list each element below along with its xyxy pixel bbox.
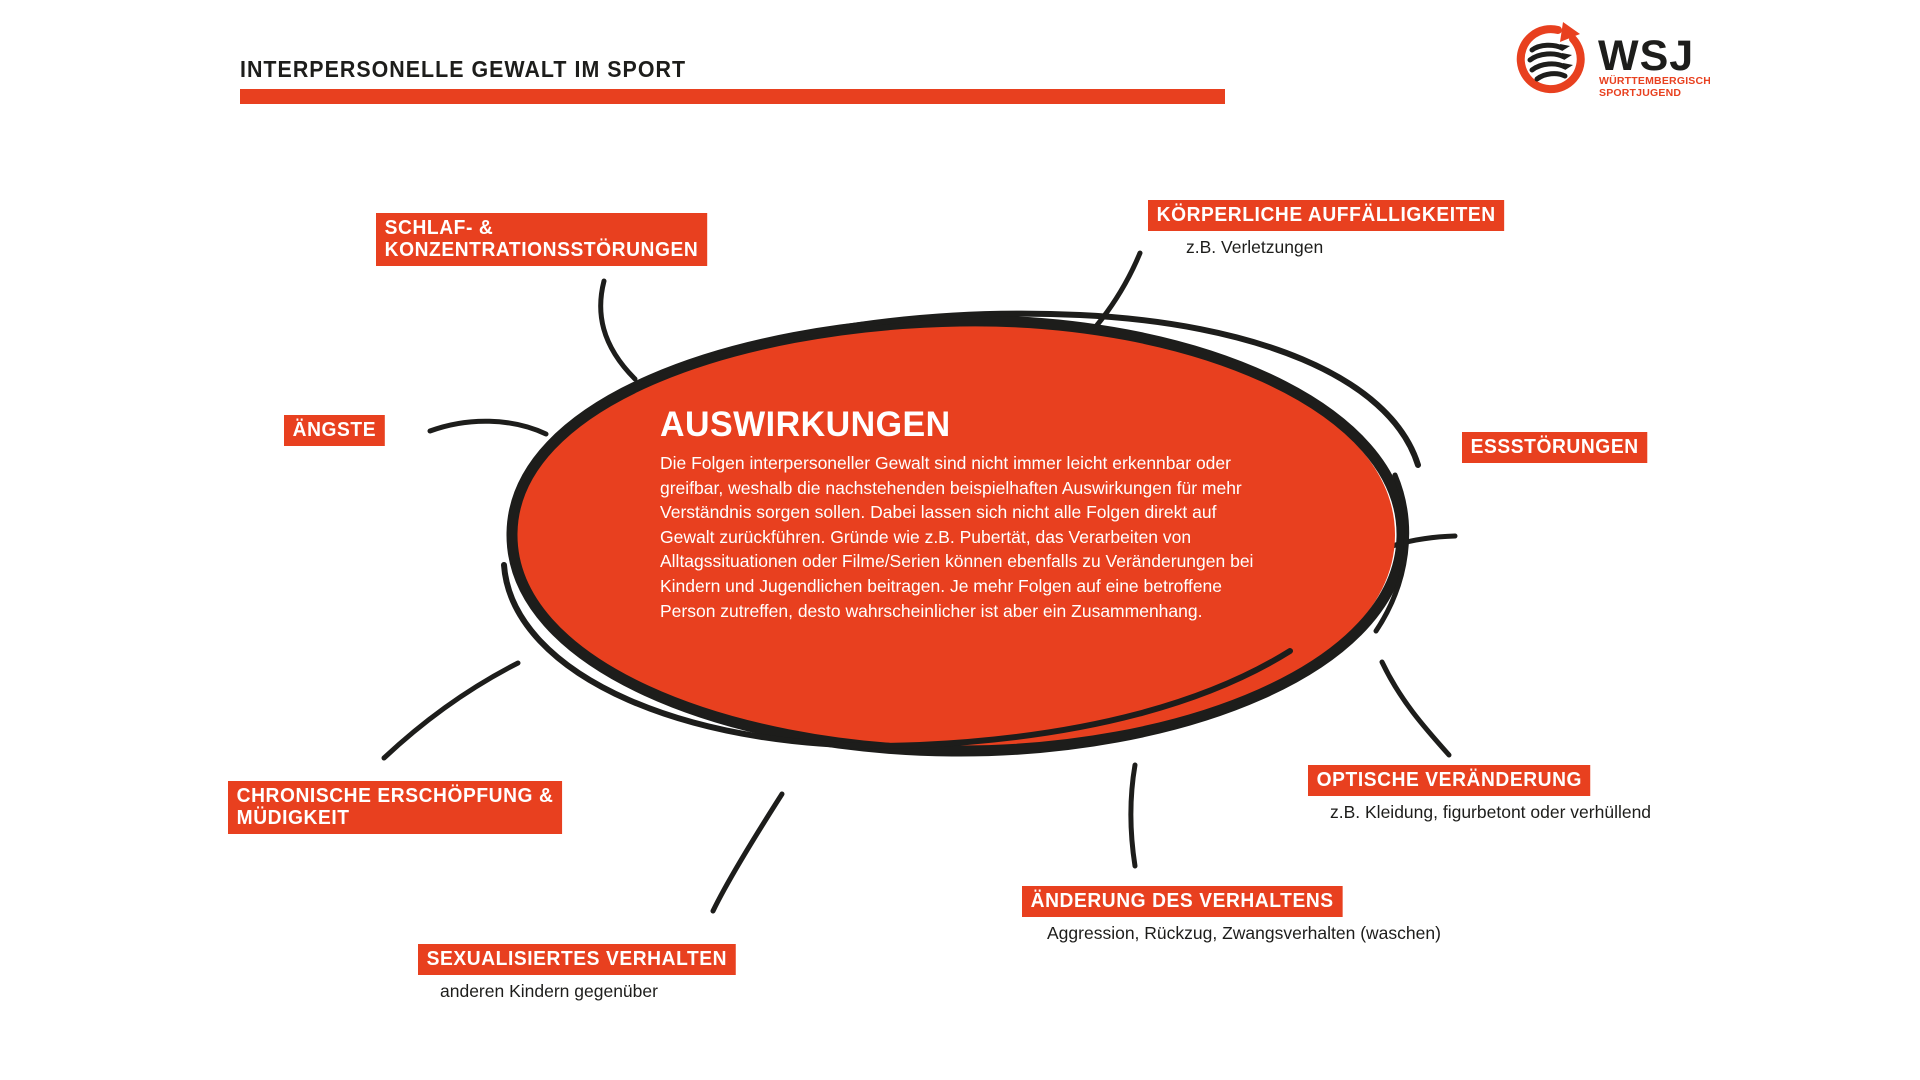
label-tag: CHRONISCHE ERSCHÖPFUNG & MÜDIGKEIT	[228, 781, 562, 834]
label-subtitle: Aggression, Rückzug, Zwangsverhalten (wa…	[1022, 922, 1441, 944]
label-aenderung-des-verhaltens[interactable]: ÄNDERUNG DES VERHALTENS Aggression, Rück…	[1022, 886, 1441, 944]
logo-wordmark: WSJ	[1598, 32, 1694, 80]
label-subtitle: anderen Kindern gegenüber	[418, 980, 749, 1002]
label-tag: OPTISCHE VERÄNDERUNG	[1308, 765, 1591, 796]
logo-subline-1: WÜRTTEMBERGISCHE	[1599, 74, 1710, 87]
label-aengste[interactable]: ÄNGSTE	[284, 415, 389, 446]
center-text-block: AUSWIRKUNGEN Die Folgen interpersoneller…	[660, 405, 1260, 623]
label-tag: ÄNDERUNG DES VERHALTENS	[1022, 886, 1342, 917]
label-subtitle: z.B. Verletzungen	[1148, 236, 1519, 258]
page-title: INTERPERSONELLE GEWALT IM SPORT	[240, 56, 686, 83]
label-essstoerungen[interactable]: ESSSTÖRUNGEN	[1462, 432, 1655, 463]
label-tag: SCHLAF- & KONZENTRATIONSSTÖRUNGEN	[376, 213, 707, 266]
label-line-1: SCHLAF- &	[385, 217, 699, 239]
label-optische-veraenderung[interactable]: OPTISCHE VERÄNDERUNG z.B. Kleidung, figu…	[1308, 765, 1651, 823]
infographic-canvas: INTERPERSONELLE GEWALT IM SPORT	[0, 0, 1920, 1080]
logo-subline-2: SPORTJUGEND	[1599, 87, 1681, 99]
center-heading: AUSWIRKUNGEN	[660, 405, 1242, 445]
connector-aenderung	[1131, 765, 1135, 866]
label-line-2: MÜDIGKEIT	[237, 807, 554, 829]
center-paragraph: Die Folgen interpersoneller Gewalt sind …	[660, 451, 1255, 623]
label-sexualisiertes-verhalten[interactable]: SEXUALISIERTES VERHALTEN anderen Kindern…	[418, 944, 749, 1002]
wsj-horse-arrow-mark	[1521, 22, 1581, 89]
wsj-logo: WSJ WÜRTTEMBERGISCHE SPORTJUGEND	[1510, 20, 1710, 102]
label-tag: ÄNGSTE	[284, 415, 385, 446]
label-chronische-erschoepfung-muedigkeit[interactable]: CHRONISCHE ERSCHÖPFUNG & MÜDIGKEIT	[228, 781, 576, 834]
label-koerperliche-auffaelligkeiten[interactable]: KÖRPERLICHE AUFFÄLLIGKEITEN z.B. Verletz…	[1148, 200, 1519, 258]
connector-sexualisiert	[713, 794, 782, 911]
label-schlaf-konzentrationsstoerungen[interactable]: SCHLAF- & KONZENTRATIONSSTÖRUNGEN	[376, 213, 721, 266]
label-line-2: KONZENTRATIONSSTÖRUNGEN	[385, 239, 699, 261]
label-line-1: CHRONISCHE ERSCHÖPFUNG &	[237, 785, 554, 807]
label-subtitle: z.B. Kleidung, figurbetont oder verhülle…	[1308, 801, 1651, 823]
title-underline-bar	[240, 89, 1225, 104]
label-tag: KÖRPERLICHE AUFFÄLLIGKEITEN	[1148, 200, 1504, 231]
label-tag: ESSSTÖRUNGEN	[1462, 432, 1647, 463]
label-tag: SEXUALISIERTES VERHALTEN	[418, 944, 736, 975]
